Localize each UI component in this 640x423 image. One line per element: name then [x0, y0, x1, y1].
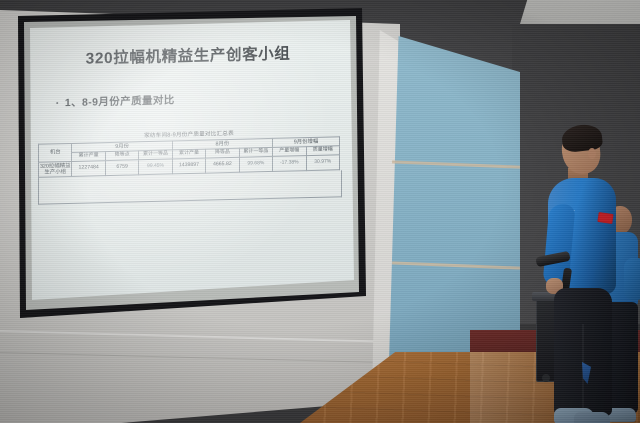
cell-quality-change: 30.97% [306, 155, 340, 171]
presenter-ear [588, 148, 596, 159]
slide-bullet-text: 1、8-9月份产质量对比 [65, 94, 175, 109]
cell-sep-total: 1227484 [72, 161, 105, 177]
presenter-hair [561, 123, 603, 153]
slide-table-wrapper: 家纺车间8-9月份产质量对比汇总表 机台 9月份 8月份 9月份增幅 累计产量 … [38, 126, 340, 205]
cell-sep-downgrade: 6759 [105, 160, 138, 176]
presentation-room-photo: 320拉幅机精益生产创客小组 •1、8-9月份产质量对比 家纺车间8-9月份产质… [0, 0, 640, 423]
bullet-marker-icon: • [56, 100, 59, 107]
cell-aug-first-grade: 99.68% [239, 156, 272, 172]
presenter [540, 128, 626, 423]
cell-sep-first-grade: 99.45% [139, 159, 172, 175]
cell-aug-total: 1439897 [172, 158, 205, 174]
attendee-arm [624, 258, 640, 300]
slide-title: 320拉幅机精益生产创客小组 [30, 40, 346, 70]
flag-patch-icon [597, 212, 613, 224]
table-header-machine: 机台 [39, 143, 72, 162]
slide-bullet-line: •1、8-9月份产质量对比 [56, 88, 336, 110]
cell-aug-downgrade: 4665.82 [206, 157, 239, 173]
projected-slide: 320拉幅机精益生产创客小组 •1、8-9月份产质量对比 家纺车间8-9月份产质… [30, 16, 356, 310]
row-machine-label: 320拉幅精益生产小组 [39, 161, 72, 177]
presenter-shoe-right [574, 412, 610, 423]
cell-output-change: -17.38% [273, 156, 306, 172]
